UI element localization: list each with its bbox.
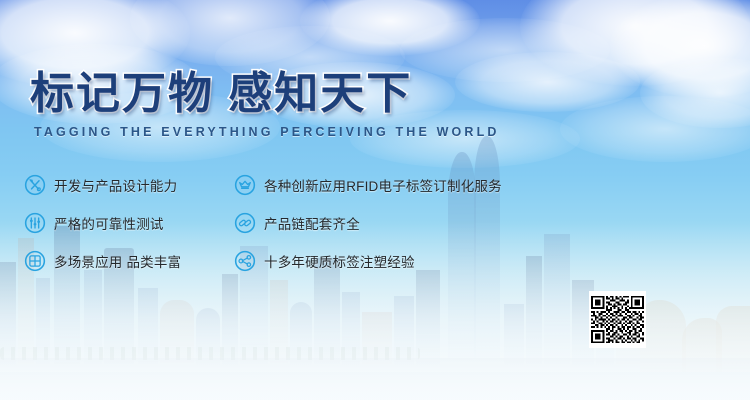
building bbox=[270, 280, 288, 366]
building bbox=[84, 270, 102, 366]
grid-squares-icon bbox=[24, 250, 46, 272]
building bbox=[160, 300, 194, 366]
feature-label: 开发与产品设计能力 bbox=[54, 175, 177, 195]
cloud-shape bbox=[560, 96, 750, 162]
rock-outcrop bbox=[716, 306, 750, 372]
waterfront-promenade bbox=[0, 358, 750, 374]
building bbox=[196, 308, 220, 366]
headline-block: 标记万物 感知天下 TAGGING THE EVERYTHING PERCEIV… bbox=[30, 72, 519, 139]
share-nodes-icon bbox=[234, 250, 256, 272]
feature-item-reliability-testing: 严格的可靠性测试 bbox=[24, 204, 229, 242]
feature-label: 产品链配套齐全 bbox=[264, 213, 360, 233]
building bbox=[0, 262, 16, 366]
building bbox=[342, 292, 360, 366]
chain-link-icon bbox=[234, 212, 256, 234]
rock-outcrop bbox=[682, 318, 722, 372]
page-subtitle: TAGGING THE EVERYTHING PERCEIVING THE WO… bbox=[34, 124, 500, 139]
page-title: 标记万物 感知天下 bbox=[30, 72, 519, 116]
qr-code[interactable] bbox=[589, 291, 646, 348]
sliders-icon bbox=[24, 212, 46, 234]
crossed-tools-icon bbox=[24, 174, 46, 196]
feature-item-product-chain: 产品链配套齐全 bbox=[234, 204, 724, 242]
promo-banner: 标记万物 感知天下 TAGGING THE EVERYTHING PERCEIV… bbox=[0, 0, 750, 400]
building bbox=[290, 302, 312, 366]
feature-item-multi-scenario: 多场景应用 品类丰富 bbox=[24, 242, 229, 280]
cloud-shape bbox=[520, 0, 750, 86]
cloud-shape bbox=[640, 58, 750, 128]
crown-icon bbox=[234, 174, 256, 196]
building bbox=[36, 278, 50, 366]
feature-list: 开发与产品设计能力 各种创新应用RFID电子标签订制化服务 严格的可靠性测试 bbox=[24, 166, 724, 280]
feature-item-injection-molding-experience: 十多年硬质标签注塑经验 bbox=[234, 242, 724, 280]
cloud-shape bbox=[610, 0, 750, 98]
feature-label: 严格的可靠性测试 bbox=[54, 213, 164, 233]
qr-code-matrix bbox=[591, 293, 644, 346]
building bbox=[504, 304, 524, 366]
cloud-shape bbox=[130, 0, 330, 66]
building bbox=[394, 296, 414, 366]
feature-label: 各种创新应用RFID电子标签订制化服务 bbox=[264, 175, 502, 195]
feature-item-rfid-custom-service: 各种创新应用RFID电子标签订制化服务 bbox=[234, 166, 724, 204]
building bbox=[416, 270, 440, 366]
feature-item-development-design: 开发与产品设计能力 bbox=[24, 166, 229, 204]
waterfront-trees bbox=[0, 347, 420, 360]
rock-outcrop bbox=[640, 300, 686, 372]
cloud-shape bbox=[300, 0, 480, 56]
building bbox=[138, 288, 158, 366]
feature-label: 十多年硬质标签注塑经验 bbox=[264, 251, 415, 271]
building bbox=[362, 312, 392, 366]
feature-label: 多场景应用 品类丰富 bbox=[54, 251, 181, 271]
water-surface bbox=[0, 372, 750, 400]
building bbox=[222, 274, 238, 366]
